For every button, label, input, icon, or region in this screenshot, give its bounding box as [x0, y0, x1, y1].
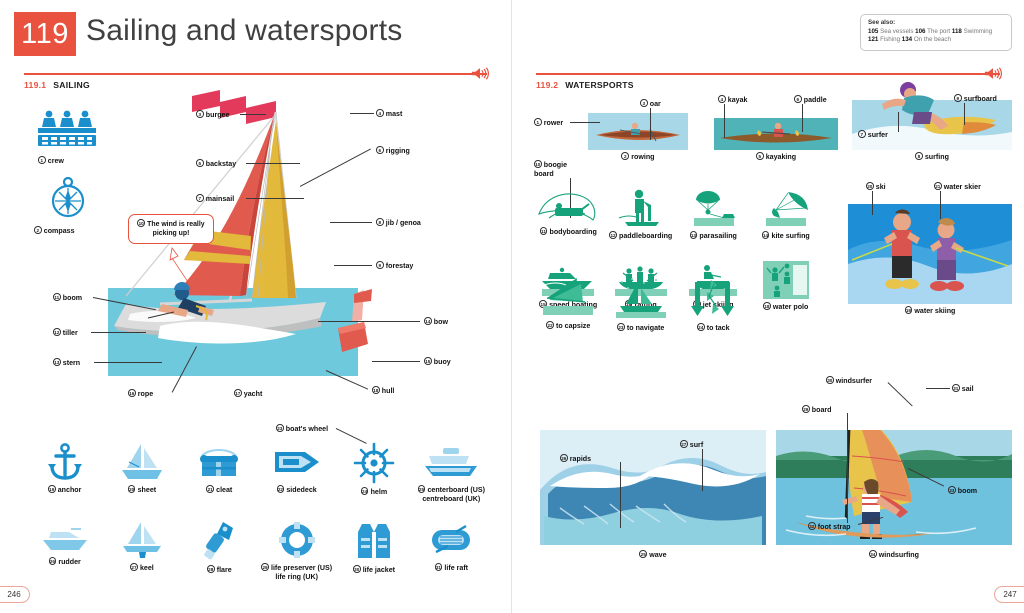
- page-right: See also: 105 Sea vessels 106 The port 1…: [512, 0, 1024, 613]
- item-number: 13: [53, 358, 61, 366]
- section-label-sailing: 119.1SAILING: [24, 80, 487, 90]
- page-title: Sailing and watersports: [86, 14, 402, 48]
- item-label: keel: [140, 564, 154, 572]
- watersport-kite-surfing[interactable]: 14kite surfing: [750, 188, 823, 241]
- leader-kayak: [724, 104, 725, 138]
- leader-surfboard: [964, 103, 965, 125]
- watersport-to-navigate[interactable]: 23to navigate: [605, 276, 678, 333]
- equipment-life-raft[interactable]: 31life raft: [413, 520, 490, 582]
- section-rule: [24, 73, 487, 75]
- watersport-paddleboarding[interactable]: 12paddleboarding: [605, 188, 678, 241]
- sailboat-sheet-icon: [119, 442, 165, 482]
- item-number: 34: [869, 550, 877, 558]
- label-compass: 2compass: [34, 226, 75, 235]
- item-number: 17: [234, 389, 242, 397]
- watersport-label: 23to navigate: [617, 323, 664, 333]
- label-burgee: 3burgee: [196, 110, 229, 119]
- watersport-label: 24to tack: [697, 323, 730, 333]
- page-left: 119 Sailing and watersports 119.1SAILING: [0, 0, 512, 613]
- equipment-life-preserver[interactable]: 29life preserver (US) life ring (UK): [258, 520, 335, 582]
- page-number-left: 246: [0, 586, 30, 603]
- wave-panel: [540, 430, 766, 545]
- equipment-label: 31life raft: [435, 563, 468, 573]
- item-number: 21: [206, 485, 214, 493]
- item-number: 29: [261, 563, 269, 571]
- surfing-caption: 8surfing: [852, 152, 1012, 161]
- item-number: 7: [858, 130, 866, 138]
- item-number: 6: [794, 95, 802, 103]
- see-also-number[interactable]: 106: [915, 28, 925, 35]
- cleat-icon: [196, 442, 242, 482]
- item-number: 28: [207, 565, 215, 573]
- label-rigging: 6rigging: [376, 146, 410, 155]
- leader-buoy: [372, 361, 420, 362]
- equipment-label: 20sheet: [128, 485, 156, 495]
- item-number: 24: [697, 323, 705, 331]
- item-label: cleat: [216, 486, 232, 494]
- kite-surfing-icon: [760, 188, 812, 228]
- see-also-box: See also: 105 Sea vessels 106 The port 1…: [860, 14, 1012, 51]
- equipment-label: 26rudder: [49, 557, 81, 567]
- item-number: 19: [48, 485, 56, 493]
- item-label: mainsail: [206, 195, 234, 203]
- label-rope: 16rope: [128, 389, 153, 398]
- label-rapids: 26rapids: [560, 454, 591, 463]
- item-label: windsurfing: [879, 551, 919, 559]
- rowing-panel: [588, 113, 688, 150]
- leader-jib: [330, 222, 372, 223]
- item-number: 20: [128, 485, 136, 493]
- equipment-label: 28flare: [207, 565, 232, 575]
- parasailing-icon: [688, 188, 738, 228]
- paddleboarding-icon: [617, 188, 665, 228]
- anchor-icon: [45, 442, 85, 482]
- item-number: 26: [560, 454, 568, 462]
- item-number: 23: [276, 424, 284, 432]
- item-number: 3: [640, 99, 648, 107]
- watersport-label: 13parasailing: [690, 231, 737, 241]
- speech-bubble-text: The wind is really picking up!: [147, 221, 204, 237]
- helm-wheel-icon: [353, 442, 395, 484]
- item-number: 27: [130, 563, 138, 571]
- item-number: 8: [376, 218, 384, 226]
- item-label: life jacket: [363, 566, 395, 574]
- item-label: stern: [63, 359, 80, 367]
- item-number: 31: [435, 563, 443, 571]
- item-number: 13: [690, 231, 698, 239]
- item-label: bow: [434, 318, 448, 326]
- see-also-text[interactable]: Sea vessels: [880, 28, 913, 35]
- item-number: 14: [762, 231, 770, 239]
- flare-icon: [199, 520, 239, 562]
- watersport-to-capsize[interactable]: 22to capsize: [532, 276, 605, 333]
- navigate-icon: [614, 276, 668, 320]
- kayaking-caption: 5kayaking: [714, 152, 838, 161]
- see-also-text[interactable]: Fishing: [880, 36, 900, 43]
- item-number: 9: [376, 261, 384, 269]
- item-label: rigging: [386, 147, 410, 155]
- equipment-label: 21cleat: [206, 485, 232, 495]
- label-kayak: 4kayak: [718, 95, 748, 104]
- item-number: 4: [376, 109, 384, 117]
- watersport-to-tack[interactable]: 24to tack: [677, 276, 750, 333]
- item-label: surf: [690, 441, 703, 449]
- leader-paddle: [802, 104, 803, 132]
- item-number: 8: [915, 152, 923, 160]
- centerboard-icon: [423, 442, 479, 482]
- item-number: 5: [196, 159, 204, 167]
- item-label: rowing: [631, 153, 654, 161]
- item-number: 11: [53, 293, 61, 301]
- equipment-cleat[interactable]: 21cleat: [181, 442, 258, 504]
- see-also-text[interactable]: Swimming: [964, 28, 993, 35]
- item-label: bodyboarding: [549, 228, 596, 236]
- sidedeck-icon: [271, 442, 323, 482]
- item-label: rudder: [58, 558, 80, 566]
- speaker-icon[interactable]: [471, 66, 489, 81]
- item-number: 10: [534, 160, 542, 168]
- leader-tiller: [91, 332, 146, 333]
- section-number: 119.2: [536, 80, 558, 90]
- item-label: buoy: [434, 358, 451, 366]
- item-number: 20: [866, 182, 874, 190]
- item-number: 5: [756, 152, 764, 160]
- item-label: crew: [48, 157, 64, 165]
- item-label: paddle: [804, 96, 827, 104]
- item-label: backstay: [206, 160, 236, 168]
- item-number: 15: [424, 357, 432, 365]
- sailing-equipment-grid: 19anchor 20sheet: [26, 442, 490, 582]
- label-tiller: 12tiller: [53, 328, 78, 337]
- label-yacht: 17yacht: [234, 389, 262, 398]
- label-jib-genoa: 8jib / genoa: [376, 218, 421, 227]
- water-skiing-panel: [848, 204, 1012, 304]
- label-boats-wheel: 23boat's wheel: [276, 424, 328, 433]
- label-surfboard: 9surfboard: [954, 94, 997, 103]
- compass-illustration: [46, 176, 90, 220]
- watersport-label: 12paddleboarding: [609, 231, 672, 241]
- label-hull: 18hull: [372, 386, 394, 395]
- item-number: 3: [196, 110, 204, 118]
- item-number: 22: [546, 321, 554, 329]
- equipment-keel[interactable]: 27keel: [103, 520, 180, 582]
- label-forestay: 9forestay: [376, 261, 413, 270]
- speech-bubble: 10The wind is really picking up!: [128, 214, 214, 244]
- equipment-label: 22sidedeck: [277, 485, 317, 495]
- crew-icon: [36, 108, 98, 150]
- surfing-panel: [852, 82, 1012, 150]
- item-number: 10: [137, 219, 145, 227]
- label-board: 29board: [802, 405, 832, 414]
- item-label: jib / genoa: [386, 219, 421, 227]
- label-backstay: 5backstay: [196, 159, 236, 168]
- label-stern: 13stern: [53, 358, 80, 367]
- item-number: 4: [718, 95, 726, 103]
- windsurfing-caption: 34windsurfing: [776, 550, 1012, 559]
- leader-oar: [650, 108, 651, 140]
- see-also-line-1: 105 Sea vessels 106 The port 118 Swimmin…: [868, 28, 1005, 37]
- item-label: mast: [386, 110, 403, 118]
- item-label: surfing: [925, 153, 949, 161]
- life-ring-icon: [277, 520, 317, 560]
- item-label: boom: [958, 487, 977, 495]
- item-label: life preserver (US) life ring (UK): [271, 564, 332, 581]
- equipment-label: 25centerboard (US) centreboard (UK): [418, 485, 485, 504]
- item-label: forestay: [386, 262, 414, 270]
- item-label: paddleboarding: [619, 232, 672, 240]
- item-number: 23: [617, 323, 625, 331]
- item-number: 22: [277, 485, 285, 493]
- rowing-caption: 2rowing: [588, 152, 688, 161]
- leader-rower: [570, 122, 600, 123]
- leader-backstay: [246, 163, 300, 164]
- item-label: boom: [63, 294, 82, 302]
- leader-windsurfer: [888, 382, 913, 406]
- item-number: 29: [802, 405, 810, 413]
- leader-sail: [926, 388, 950, 389]
- equipment-label: 24helm: [361, 487, 387, 497]
- item-label: to capsize: [556, 322, 590, 330]
- item-label: helm: [371, 488, 388, 496]
- leader-mainsail: [246, 198, 304, 199]
- equipment-label: 19anchor: [48, 485, 81, 495]
- speaker-icon[interactable]: [984, 66, 1002, 81]
- item-number: 27: [680, 440, 688, 448]
- item-label: board: [812, 406, 832, 414]
- item-label: anchor: [58, 486, 82, 494]
- label-mast: 4mast: [376, 109, 402, 118]
- item-number: 30: [353, 565, 361, 573]
- crew-illustration: [36, 108, 98, 150]
- leader-board: [847, 413, 848, 523]
- leader-surf: [702, 449, 703, 491]
- label-paddle: 6paddle: [794, 95, 827, 104]
- rudder-icon: [41, 520, 89, 554]
- label-boom: 33boom: [948, 486, 977, 495]
- page-number-right: 247: [994, 586, 1024, 603]
- item-number: 18: [372, 386, 380, 394]
- item-label: life raft: [444, 564, 468, 572]
- keel-icon: [119, 520, 165, 560]
- label-buoy: 15buoy: [424, 357, 451, 366]
- equipment-sheet[interactable]: 20sheet: [103, 442, 180, 504]
- label-windsurfer: 30windsurfer: [826, 376, 872, 385]
- item-number: 11: [540, 227, 548, 235]
- equipment-label: 27keel: [130, 563, 154, 573]
- wave-caption: 25wave: [540, 550, 766, 559]
- item-label: sheet: [138, 486, 157, 494]
- item-label: sail: [962, 385, 974, 393]
- item-number: 32: [808, 522, 816, 530]
- item-number: 2: [34, 226, 42, 234]
- item-label: compass: [44, 227, 75, 235]
- item-label: burgee: [206, 111, 230, 119]
- item-label: tiller: [63, 329, 78, 337]
- item-number: 1: [534, 118, 542, 126]
- see-also-text[interactable]: The port: [927, 28, 950, 35]
- item-number: 12: [53, 328, 61, 336]
- item-number: 33: [948, 486, 956, 494]
- item-number: 21: [934, 182, 942, 190]
- section-header-sailing: 119.1SAILING: [24, 73, 487, 90]
- life-raft-icon: [428, 520, 474, 560]
- item-number: 16: [128, 389, 136, 397]
- leader-burgee: [240, 114, 266, 115]
- equipment-label: 30life jacket: [353, 565, 395, 575]
- item-number: 19: [905, 306, 913, 314]
- leader-forestay: [334, 265, 372, 266]
- equipment-flare[interactable]: 28flare: [181, 520, 258, 582]
- life-jacket-icon: [354, 520, 394, 562]
- label-mainsail: 7mainsail: [196, 194, 234, 203]
- item-number: 30: [826, 376, 834, 384]
- item-label: boat's wheel: [286, 425, 328, 433]
- item-label: kayak: [728, 96, 748, 104]
- equipment-anchor[interactable]: 19anchor: [26, 442, 103, 504]
- water-skiing-caption: 19water skiing: [848, 306, 1012, 315]
- item-label: rower: [544, 119, 563, 127]
- item-label: windsurfer: [836, 377, 872, 385]
- see-also-text[interactable]: On the beach: [914, 36, 951, 43]
- item-label: yacht: [244, 390, 263, 398]
- item-label: foot strap: [818, 523, 851, 531]
- equipment-helm[interactable]: 24helm: [335, 442, 412, 504]
- compass-icon: [46, 176, 90, 220]
- section-rule: [536, 73, 1000, 75]
- item-label: surfer: [868, 131, 888, 139]
- chapter-number-badge: 119: [14, 12, 76, 56]
- leader-rapids: [620, 462, 621, 528]
- item-label: rapids: [570, 455, 591, 463]
- label-foot-strap: 32foot strap: [808, 522, 851, 531]
- item-label: hull: [382, 387, 395, 395]
- item-label: centerboard (US) centreboard (UK): [422, 486, 485, 503]
- leader-water-skier: [940, 191, 941, 219]
- kayak-panel: [714, 118, 838, 150]
- label-boom: 11boom: [53, 293, 82, 302]
- label-water-skier: 21water skier: [934, 182, 981, 191]
- leader-bow: [318, 321, 420, 322]
- item-number: 25: [418, 485, 426, 493]
- equipment-rudder[interactable]: 26rudder: [26, 520, 103, 582]
- item-label: oar: [650, 100, 661, 108]
- see-also-title: See also:: [868, 19, 1005, 26]
- item-label: rope: [138, 390, 153, 398]
- item-number: 25: [639, 550, 647, 558]
- item-number: 2: [621, 152, 629, 160]
- item-label: kite surfing: [772, 232, 810, 240]
- watersport-label: 11bodyboarding: [540, 227, 597, 237]
- label-oar: 3oar: [640, 99, 661, 108]
- label-sail: 31sail: [952, 384, 974, 393]
- see-also-line-2: 121 Fishing 134 On the beach: [868, 36, 1005, 45]
- leader-stern: [94, 362, 162, 363]
- item-number: 9: [954, 94, 962, 102]
- capsize-icon: [541, 276, 595, 318]
- see-also-number[interactable]: 134: [902, 36, 912, 43]
- item-label: ski: [876, 183, 886, 191]
- watersport-label: 22to capsize: [546, 321, 590, 331]
- item-label: water skier: [944, 183, 981, 191]
- item-number: 14: [424, 317, 432, 325]
- leader-ski: [872, 191, 873, 215]
- section-title: WATERSPORTS: [565, 80, 633, 90]
- item-label: water skiing: [914, 307, 955, 315]
- bodyboarding-icon: [537, 188, 599, 224]
- watersport-parasailing[interactable]: 13parasailing: [677, 188, 750, 241]
- label-surfer: 7surfer: [858, 130, 888, 139]
- watersport-bodyboarding[interactable]: 11bodyboarding: [532, 188, 605, 241]
- item-label: to navigate: [627, 324, 664, 332]
- watersport-label: 14kite surfing: [762, 231, 810, 241]
- label-rower: 1rower: [534, 118, 563, 127]
- item-label: wave: [649, 551, 666, 559]
- label-ski: 20ski: [866, 182, 886, 191]
- equipment-sidedeck[interactable]: 22sidedeck: [258, 442, 335, 504]
- equipment-label: 29life preserver (US) life ring (UK): [261, 563, 332, 582]
- tack-icon: [689, 276, 737, 320]
- item-number: 6: [376, 146, 384, 154]
- label-bow: 14bow: [424, 317, 448, 326]
- label-boogie-board: 10boogie board: [534, 160, 578, 179]
- item-label: sidedeck: [286, 486, 316, 494]
- speech-bubble-tail: [168, 248, 204, 292]
- see-also-number[interactable]: 105: [868, 28, 878, 35]
- section-title: SAILING: [53, 80, 90, 90]
- item-label: kayaking: [766, 153, 796, 161]
- label-surf: 27surf: [680, 440, 703, 449]
- item-label: flare: [217, 566, 232, 574]
- section-number: 119.1: [24, 80, 46, 90]
- item-label: parasailing: [699, 232, 736, 240]
- equipment-centerboard[interactable]: 25centerboard (US) centreboard (UK): [413, 442, 490, 504]
- item-label: surfboard: [964, 95, 997, 103]
- leader-surfer: [898, 112, 899, 132]
- watersports-verb-grid: 22to capsize 23to navigate: [532, 276, 822, 333]
- leader-mast: [350, 113, 374, 114]
- item-number: 24: [361, 487, 369, 495]
- equipment-life-jacket[interactable]: 30life jacket: [335, 520, 412, 582]
- item-number: 26: [49, 557, 57, 565]
- item-number: 31: [952, 384, 960, 392]
- item-number: 12: [609, 231, 617, 239]
- see-also-number[interactable]: 118: [952, 28, 962, 35]
- item-number: 7: [196, 194, 204, 202]
- item-number: 1: [38, 156, 46, 164]
- item-label: to tack: [707, 324, 730, 332]
- see-also-number[interactable]: 121: [868, 36, 878, 43]
- label-crew: 1crew: [38, 156, 64, 165]
